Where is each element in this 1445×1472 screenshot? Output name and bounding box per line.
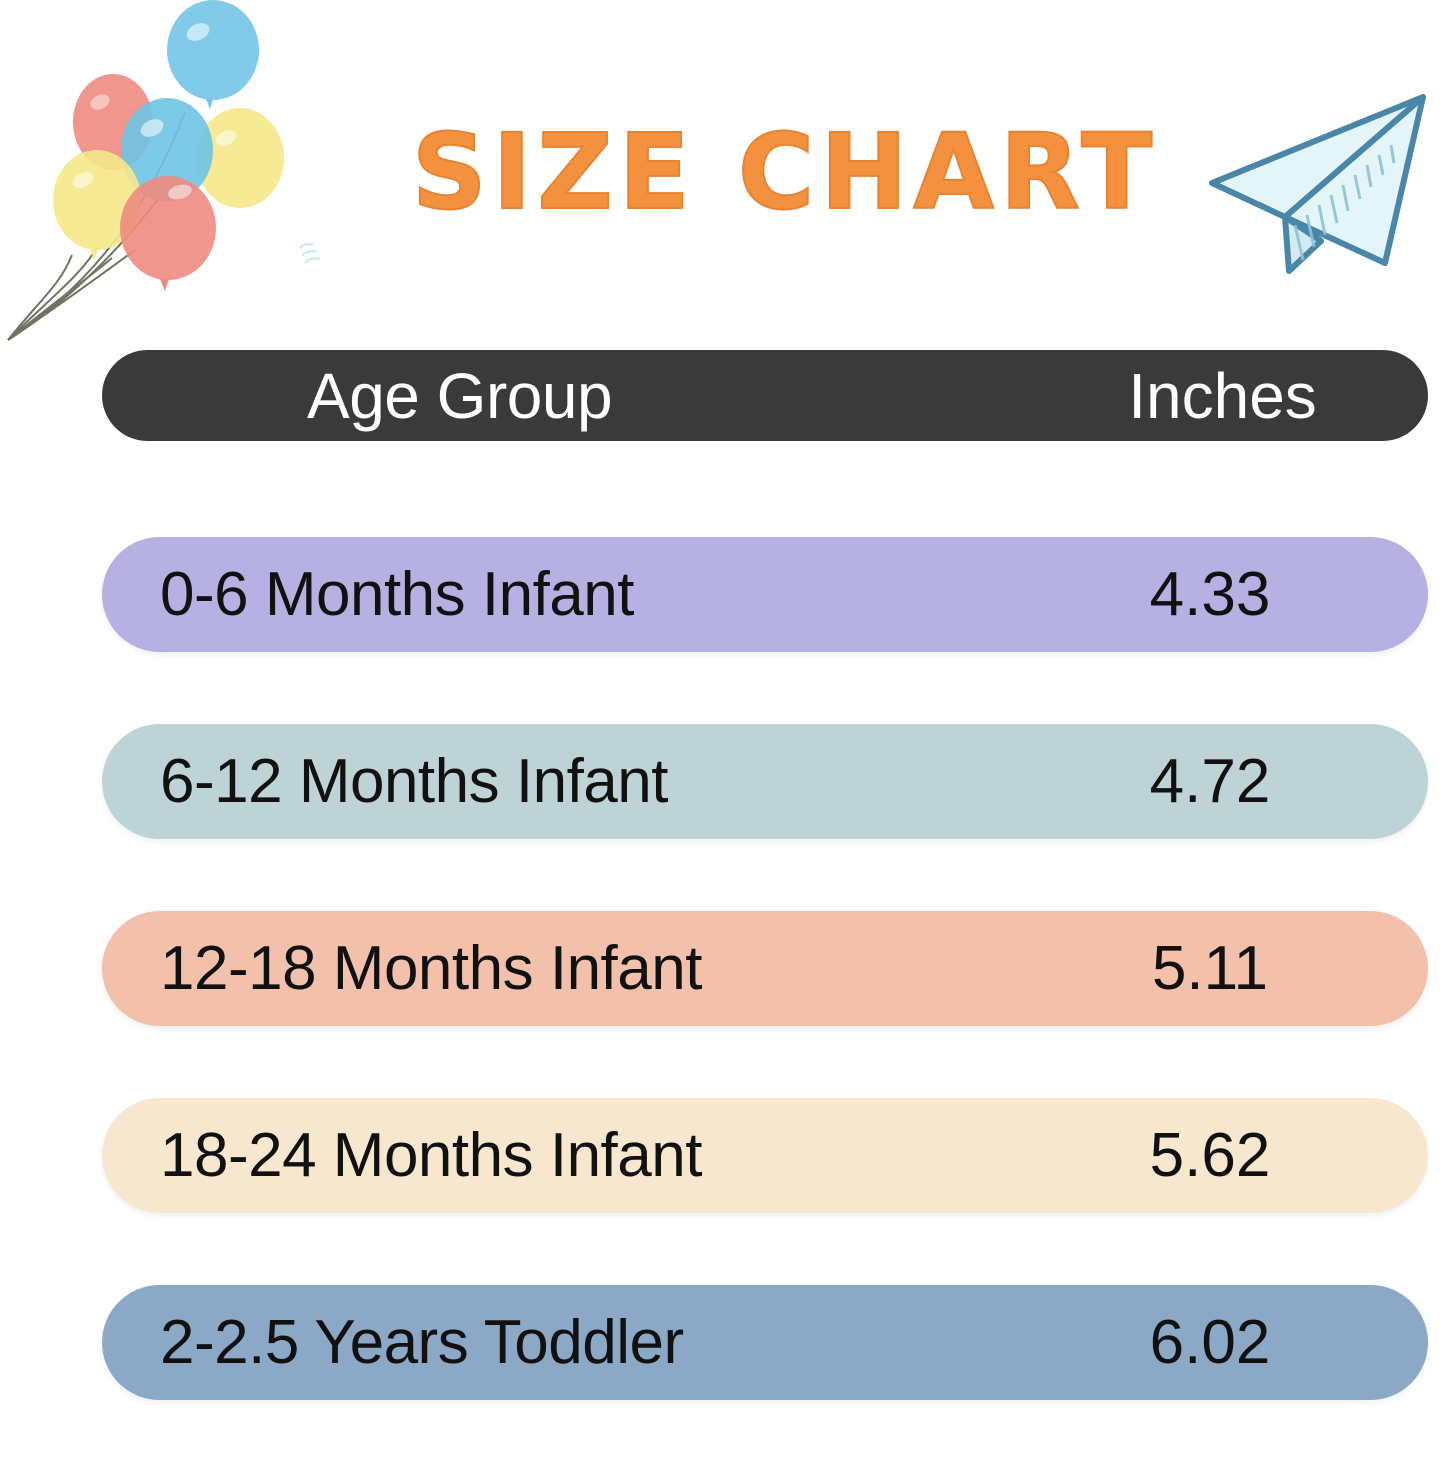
table-row: 12-18 Months Infant 5.11 bbox=[102, 911, 1428, 1026]
page-title: SIZE CHART bbox=[395, 110, 1175, 235]
size-chart-table: Age Group Inches 0-6 Months Infant 4.33 … bbox=[102, 350, 1428, 1472]
table-row: 2-2.5 Years Toddler 6.02 bbox=[102, 1285, 1428, 1400]
column-header-inches: Inches bbox=[1102, 359, 1428, 433]
table-row: 0-6 Months Infant 4.33 bbox=[102, 537, 1428, 652]
column-header-age-group: Age Group bbox=[102, 359, 1102, 433]
table-row: 18-24 Months Infant 5.62 bbox=[102, 1098, 1428, 1213]
cell-inches: 4.33 bbox=[1102, 559, 1428, 630]
table-row: 6-12 Months Infant 4.72 bbox=[102, 724, 1428, 839]
cell-age-group: 0-6 Months Infant bbox=[102, 559, 1102, 630]
cell-age-group: 12-18 Months Infant bbox=[102, 933, 1102, 1004]
cell-inches: 6.02 bbox=[1102, 1307, 1428, 1378]
cell-inches: 5.62 bbox=[1102, 1120, 1428, 1191]
paper-airplane-icon bbox=[1185, 75, 1440, 290]
cell-age-group: 6-12 Months Infant bbox=[102, 746, 1102, 817]
cell-age-group: 2-2.5 Years Toddler bbox=[102, 1307, 1102, 1378]
cell-inches: 4.72 bbox=[1102, 746, 1428, 817]
cell-age-group: 18-24 Months Infant bbox=[102, 1120, 1102, 1191]
cell-inches: 5.11 bbox=[1102, 933, 1428, 1004]
page-title-text: SIZE CHART bbox=[412, 111, 1158, 233]
balloons-icon bbox=[0, 0, 330, 345]
table-header-row: Age Group Inches bbox=[102, 350, 1428, 441]
